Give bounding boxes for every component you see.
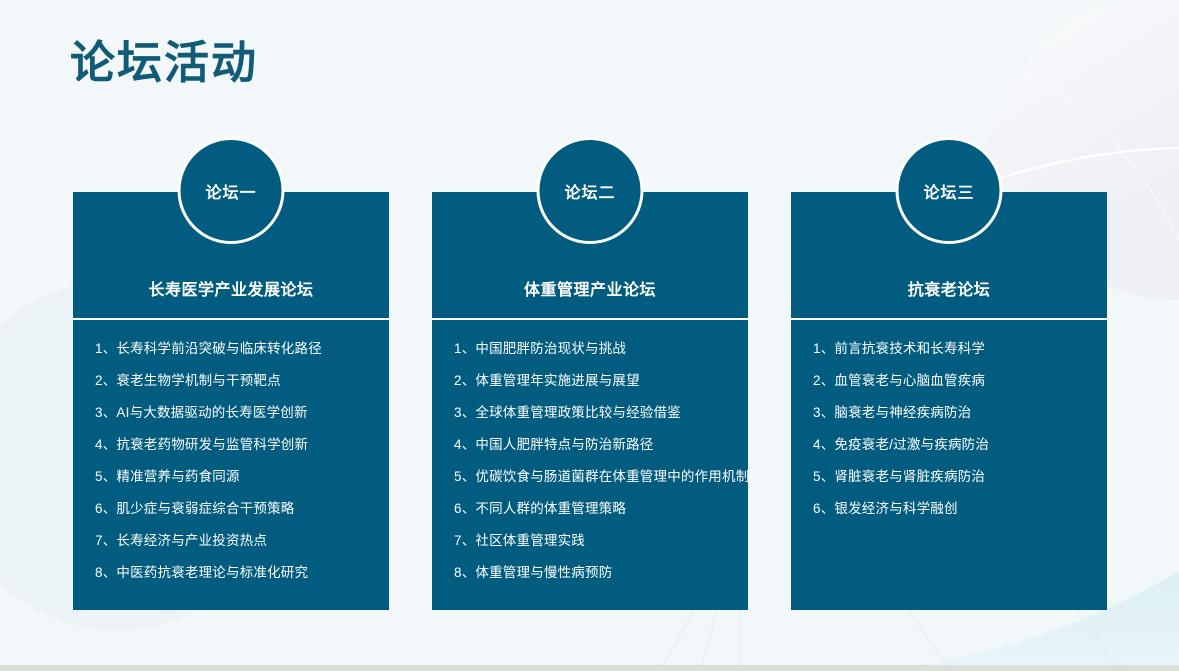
forum-badge-label-3: 论坛三 (923, 179, 974, 203)
list-item[interactable]: 1、长寿科学前沿突破与临床转化路径 (95, 342, 389, 356)
list-item[interactable]: 6、肌少症与衰弱症综合干预策略 (95, 502, 389, 516)
list-item[interactable]: 2、衰老生物学机制与干预靶点 (95, 374, 389, 388)
forum-topic-list-3: 1、前言抗衰技术和长寿科学 2、血管衰老与心脑血管疾病 3、脑衰老与神经疾病防治… (791, 320, 1107, 610)
list-item[interactable]: 2、血管衰老与心脑血管疾病 (813, 374, 1107, 388)
forum-topic-list-2: 1、中国肥胖防治现状与挑战 2、体重管理年实施进展与展望 3、全球体重管理政策比… (432, 320, 748, 610)
decor-rays (660, 600, 1120, 671)
list-item[interactable]: 6、银发经济与科学融创 (813, 502, 1107, 516)
decor-bottom-strip (0, 665, 1179, 671)
page-title: 论坛活动 (70, 38, 258, 88)
list-item[interactable]: 8、中医药抗衰老理论与标准化研究 (95, 566, 389, 580)
list-item[interactable]: 2、体重管理年实施进展与展望 (454, 374, 748, 388)
list-item[interactable]: 8、体重管理与慢性病预防 (454, 566, 748, 580)
list-item[interactable]: 1、中国肥胖防治现状与挑战 (454, 342, 748, 356)
list-item[interactable]: 4、抗衰老药物研发与监管科学创新 (95, 438, 389, 452)
forum-header-title-3: 抗衰老论坛 (908, 276, 991, 300)
list-item[interactable]: 5、精准营养与药食同源 (95, 470, 389, 484)
forum-badge-3: 论坛三 (896, 137, 1003, 244)
forum-card-1[interactable]: 论坛一 长寿医学产业发展论坛 1、长寿科学前沿突破与临床转化路径 2、衰老生物学… (73, 192, 389, 610)
list-item[interactable]: 5、肾脏衰老与肾脏疾病防治 (813, 470, 1107, 484)
forum-header-title-2: 体重管理产业论坛 (524, 276, 656, 300)
list-item[interactable]: 7、社区体重管理实践 (454, 534, 748, 548)
forum-topic-list-1: 1、长寿科学前沿突破与临床转化路径 2、衰老生物学机制与干预靶点 3、AI与大数… (73, 320, 389, 610)
forum-header-title-1: 长寿医学产业发展论坛 (148, 276, 313, 300)
forum-cards-row: 论坛一 长寿医学产业发展论坛 1、长寿科学前沿突破与临床转化路径 2、衰老生物学… (73, 192, 1107, 610)
list-item[interactable]: 6、不同人群的体重管理策略 (454, 502, 748, 516)
list-item[interactable]: 3、全球体重管理政策比较与经验借鉴 (454, 406, 748, 420)
forum-badge-1: 论坛一 (178, 137, 285, 244)
forum-badge-2: 论坛二 (537, 137, 644, 244)
list-item[interactable]: 3、脑衰老与神经疾病防治 (813, 406, 1107, 420)
list-item[interactable]: 5、优碳饮食与肠道菌群在体重管理中的作用机制 (454, 470, 748, 484)
list-item[interactable]: 7、长寿经济与产业投资热点 (95, 534, 389, 548)
forum-badge-label-2: 论坛二 (564, 179, 615, 203)
list-item[interactable]: 1、前言抗衰技术和长寿科学 (813, 342, 1107, 356)
forum-badge-label-1: 论坛一 (205, 179, 256, 203)
list-item[interactable]: 3、AI与大数据驱动的长寿医学创新 (95, 406, 389, 420)
list-item[interactable]: 4、免疫衰老/过激与疾病防治 (813, 438, 1107, 452)
list-item[interactable]: 4、中国人肥胖特点与防治新路径 (454, 438, 748, 452)
forum-card-3[interactable]: 论坛三 抗衰老论坛 1、前言抗衰技术和长寿科学 2、血管衰老与心脑血管疾病 3、… (791, 192, 1107, 610)
forum-card-2[interactable]: 论坛二 体重管理产业论坛 1、中国肥胖防治现状与挑战 2、体重管理年实施进展与展… (432, 192, 748, 610)
